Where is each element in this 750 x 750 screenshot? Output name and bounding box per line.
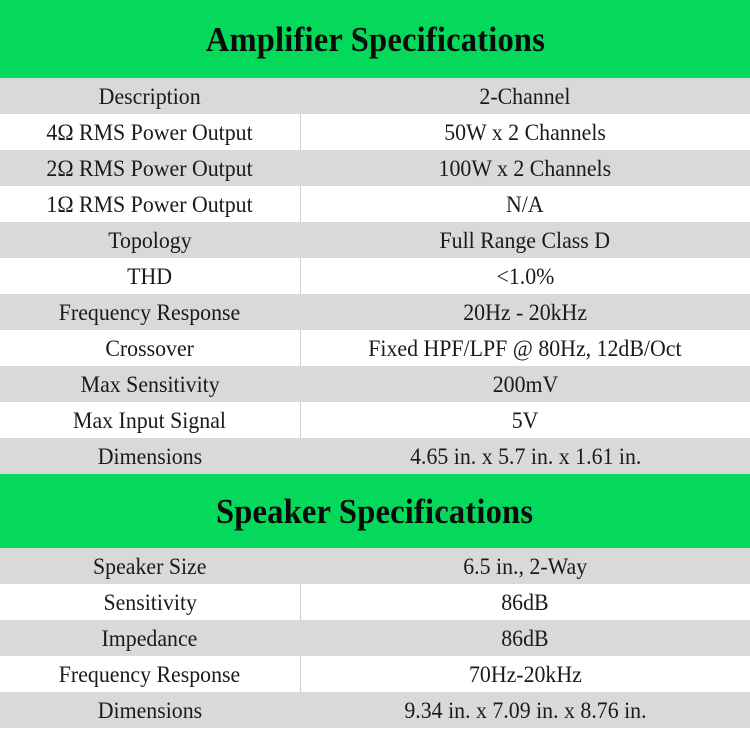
row-label-cell: Dimensions (0, 438, 300, 474)
row-value-cell: 9.34 in. x 7.09 in. x 8.76 in. (300, 692, 750, 728)
row-value: 200mV (492, 373, 558, 396)
row-label-cell: Sensitivity (0, 584, 300, 620)
row-value: 70Hz-20kHz (469, 663, 582, 686)
amplifier-section-title: Amplifier Specifications (205, 22, 544, 57)
row-label: Dimensions (98, 699, 202, 722)
row-value-cell: 5V (300, 402, 750, 438)
row-value-cell: 100W x 2 Channels (300, 150, 750, 186)
row-value-cell: 86dB (300, 620, 750, 656)
row-label: THD (127, 265, 172, 288)
table-row: Impedance 86dB (0, 620, 750, 656)
row-label-cell: Max Sensitivity (0, 366, 300, 402)
table-row: Max Sensitivity 200mV (0, 366, 750, 402)
table-row: 1Ω RMS Power Output N/A (0, 186, 750, 222)
speaker-table-body: Speaker Size 6.5 in., 2-Way Sensitivity … (0, 548, 750, 728)
row-label: 1Ω RMS Power Output (47, 193, 253, 216)
row-value-cell: <1.0% (300, 258, 750, 294)
table-row: Max Input Signal 5V (0, 402, 750, 438)
row-value: 100W x 2 Channels (439, 157, 612, 180)
amplifier-section-header: Amplifier Specifications (0, 0, 750, 78)
row-value-cell: 4.65 in. x 5.7 in. x 1.61 in. (300, 438, 750, 474)
amplifier-spec-table: Description 2-Channel 4Ω RMS Power Outpu… (0, 78, 750, 474)
row-label: Frequency Response (59, 301, 240, 324)
row-value: 86dB (502, 591, 549, 614)
amplifier-table-body: Description 2-Channel 4Ω RMS Power Outpu… (0, 78, 750, 474)
table-row: Frequency Response 70Hz-20kHz (0, 656, 750, 692)
row-label: Max Input Signal (73, 409, 226, 432)
row-label-cell: 1Ω RMS Power Output (0, 186, 300, 222)
speaker-section-title: Speaker Specifications (216, 494, 533, 529)
row-label: Topology (108, 229, 191, 252)
row-value-cell: 50W x 2 Channels (300, 114, 750, 150)
table-row: THD <1.0% (0, 258, 750, 294)
table-row: Topology Full Range Class D (0, 222, 750, 258)
row-value-cell: Fixed HPF/LPF @ 80Hz, 12dB/Oct (300, 330, 750, 366)
speaker-section-header: Speaker Specifications (0, 474, 750, 548)
row-label: 2Ω RMS Power Output (47, 157, 253, 180)
row-value-cell: 20Hz - 20kHz (300, 294, 750, 330)
row-label-cell: Description (0, 78, 300, 114)
row-label-cell: 4Ω RMS Power Output (0, 114, 300, 150)
row-value: 50W x 2 Channels (444, 121, 606, 144)
row-label-cell: Dimensions (0, 692, 300, 728)
row-value: <1.0% (496, 265, 554, 288)
table-row: 4Ω RMS Power Output 50W x 2 Channels (0, 114, 750, 150)
specifications-page: Amplifier Specifications Description 2-C… (0, 0, 750, 750)
row-label: Max Sensitivity (80, 373, 219, 396)
row-value-cell: 86dB (300, 584, 750, 620)
table-row: Speaker Size 6.5 in., 2-Way (0, 548, 750, 584)
row-label: Sensitivity (103, 591, 196, 614)
row-label-cell: Frequency Response (0, 656, 300, 692)
row-label: Crossover (105, 337, 194, 360)
row-label-cell: Frequency Response (0, 294, 300, 330)
row-value-cell: 2-Channel (300, 78, 750, 114)
row-label: 4Ω RMS Power Output (47, 121, 253, 144)
row-value: 6.5 in., 2-Way (463, 555, 587, 578)
row-value-cell: 200mV (300, 366, 750, 402)
row-label: Dimensions (98, 445, 202, 468)
row-value-cell: N/A (300, 186, 750, 222)
row-label: Frequency Response (59, 663, 240, 686)
row-value: 4.65 in. x 5.7 in. x 1.61 in. (410, 445, 641, 468)
table-row: Dimensions 4.65 in. x 5.7 in. x 1.61 in. (0, 438, 750, 474)
table-row: Description 2-Channel (0, 78, 750, 114)
table-row: Crossover Fixed HPF/LPF @ 80Hz, 12dB/Oct (0, 330, 750, 366)
table-row: Dimensions 9.34 in. x 7.09 in. x 8.76 in… (0, 692, 750, 728)
row-value: 20Hz - 20kHz (463, 301, 587, 324)
row-label-cell: THD (0, 258, 300, 294)
row-value: Full Range Class D (440, 229, 611, 252)
row-label-cell: Speaker Size (0, 548, 300, 584)
row-label-cell: Topology (0, 222, 300, 258)
table-row: Frequency Response 20Hz - 20kHz (0, 294, 750, 330)
row-value: N/A (506, 193, 544, 216)
row-label-cell: 2Ω RMS Power Output (0, 150, 300, 186)
row-value-cell: 70Hz-20kHz (300, 656, 750, 692)
row-value-cell: Full Range Class D (300, 222, 750, 258)
row-value: 9.34 in. x 7.09 in. x 8.76 in. (404, 699, 646, 722)
speaker-spec-table: Speaker Size 6.5 in., 2-Way Sensitivity … (0, 548, 750, 728)
row-value: 86dB (502, 627, 549, 650)
row-label-cell: Impedance (0, 620, 300, 656)
row-value-cell: 6.5 in., 2-Way (300, 548, 750, 584)
row-value: Fixed HPF/LPF @ 80Hz, 12dB/Oct (369, 337, 682, 360)
row-value: 5V (512, 409, 539, 432)
table-row: Sensitivity 86dB (0, 584, 750, 620)
row-label: Description (99, 85, 201, 108)
row-label-cell: Max Input Signal (0, 402, 300, 438)
row-label: Impedance (102, 627, 198, 650)
table-row: 2Ω RMS Power Output 100W x 2 Channels (0, 150, 750, 186)
row-value: 2-Channel (480, 85, 571, 108)
row-label-cell: Crossover (0, 330, 300, 366)
row-label: Speaker Size (93, 555, 206, 578)
